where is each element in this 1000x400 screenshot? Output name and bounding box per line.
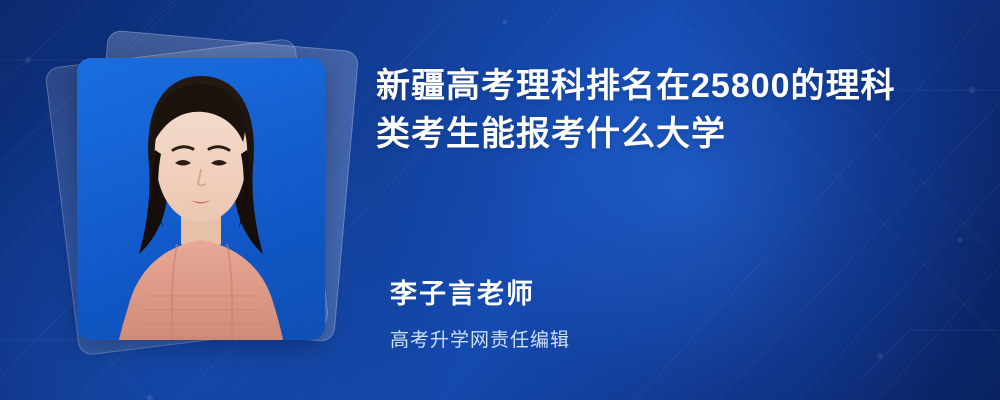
headline-block: 新疆高考理科排名在25800的理科 类考生能报考什么大学 xyxy=(376,62,956,159)
author-role: 高考升学网责任编辑 xyxy=(390,325,950,352)
portrait-photo-stack xyxy=(55,38,355,358)
author-name: 李子言老师 xyxy=(390,272,950,311)
article-header-banner: 新疆高考理科排名在25800的理科 类考生能报考什么大学 李子言老师 高考升学网… xyxy=(0,0,1000,400)
headline-line-2: 类考生能报考什么大学 xyxy=(376,110,956,158)
headline-line-1: 新疆高考理科排名在25800的理科 xyxy=(376,62,956,110)
avatar xyxy=(77,58,325,340)
author-block: 李子言老师 高考升学网责任编辑 xyxy=(390,272,950,352)
author-portrait-frame xyxy=(77,58,325,340)
